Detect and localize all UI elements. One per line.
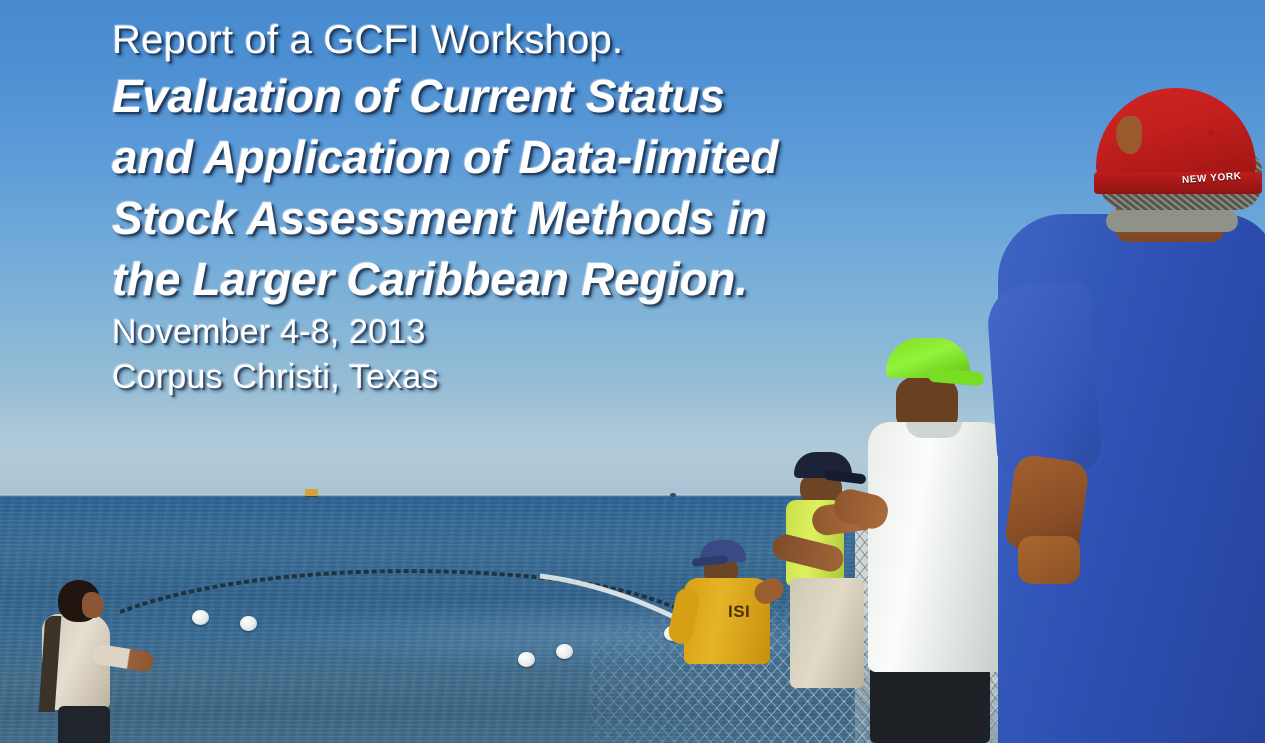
title-line-4: the Larger Caribbean Region. — [112, 249, 1012, 310]
person-wading-man-left — [20, 578, 155, 743]
legs — [58, 706, 110, 743]
collar — [906, 422, 962, 438]
person-blue-shirt-man: NEW YORK — [988, 88, 1265, 743]
net-float-icon — [556, 644, 573, 659]
collar — [1106, 210, 1238, 232]
workshop-header-line: Report of a GCFI Workshop. — [112, 14, 1012, 66]
cap-vent-icon — [1208, 130, 1214, 136]
title-line-3: Stock Assessment Methods in — [112, 188, 1012, 249]
title-line-1: Evaluation of Current Status — [112, 66, 1012, 127]
net-float-icon — [518, 652, 535, 667]
ear — [1116, 116, 1142, 154]
shirt-text: ISI — [728, 602, 750, 622]
event-date: November 4-8, 2013 — [112, 310, 1012, 355]
shorts — [790, 578, 864, 688]
title-line-2: and Application of Data-limited — [112, 127, 1012, 188]
hand — [1018, 536, 1080, 584]
face — [82, 592, 104, 618]
event-location: Corpus Christi, Texas — [112, 355, 1012, 400]
net-float-icon — [240, 616, 257, 631]
title-block: Report of a GCFI Workshop. Evaluation of… — [112, 14, 1012, 400]
far-buoy-icon — [670, 493, 676, 497]
net-float-icon — [192, 610, 209, 625]
distant-boat-icon — [305, 489, 318, 496]
person-yellow-shirt-man: ISI — [676, 540, 786, 700]
poster-image: ISI NEW YORK — [0, 0, 1265, 743]
